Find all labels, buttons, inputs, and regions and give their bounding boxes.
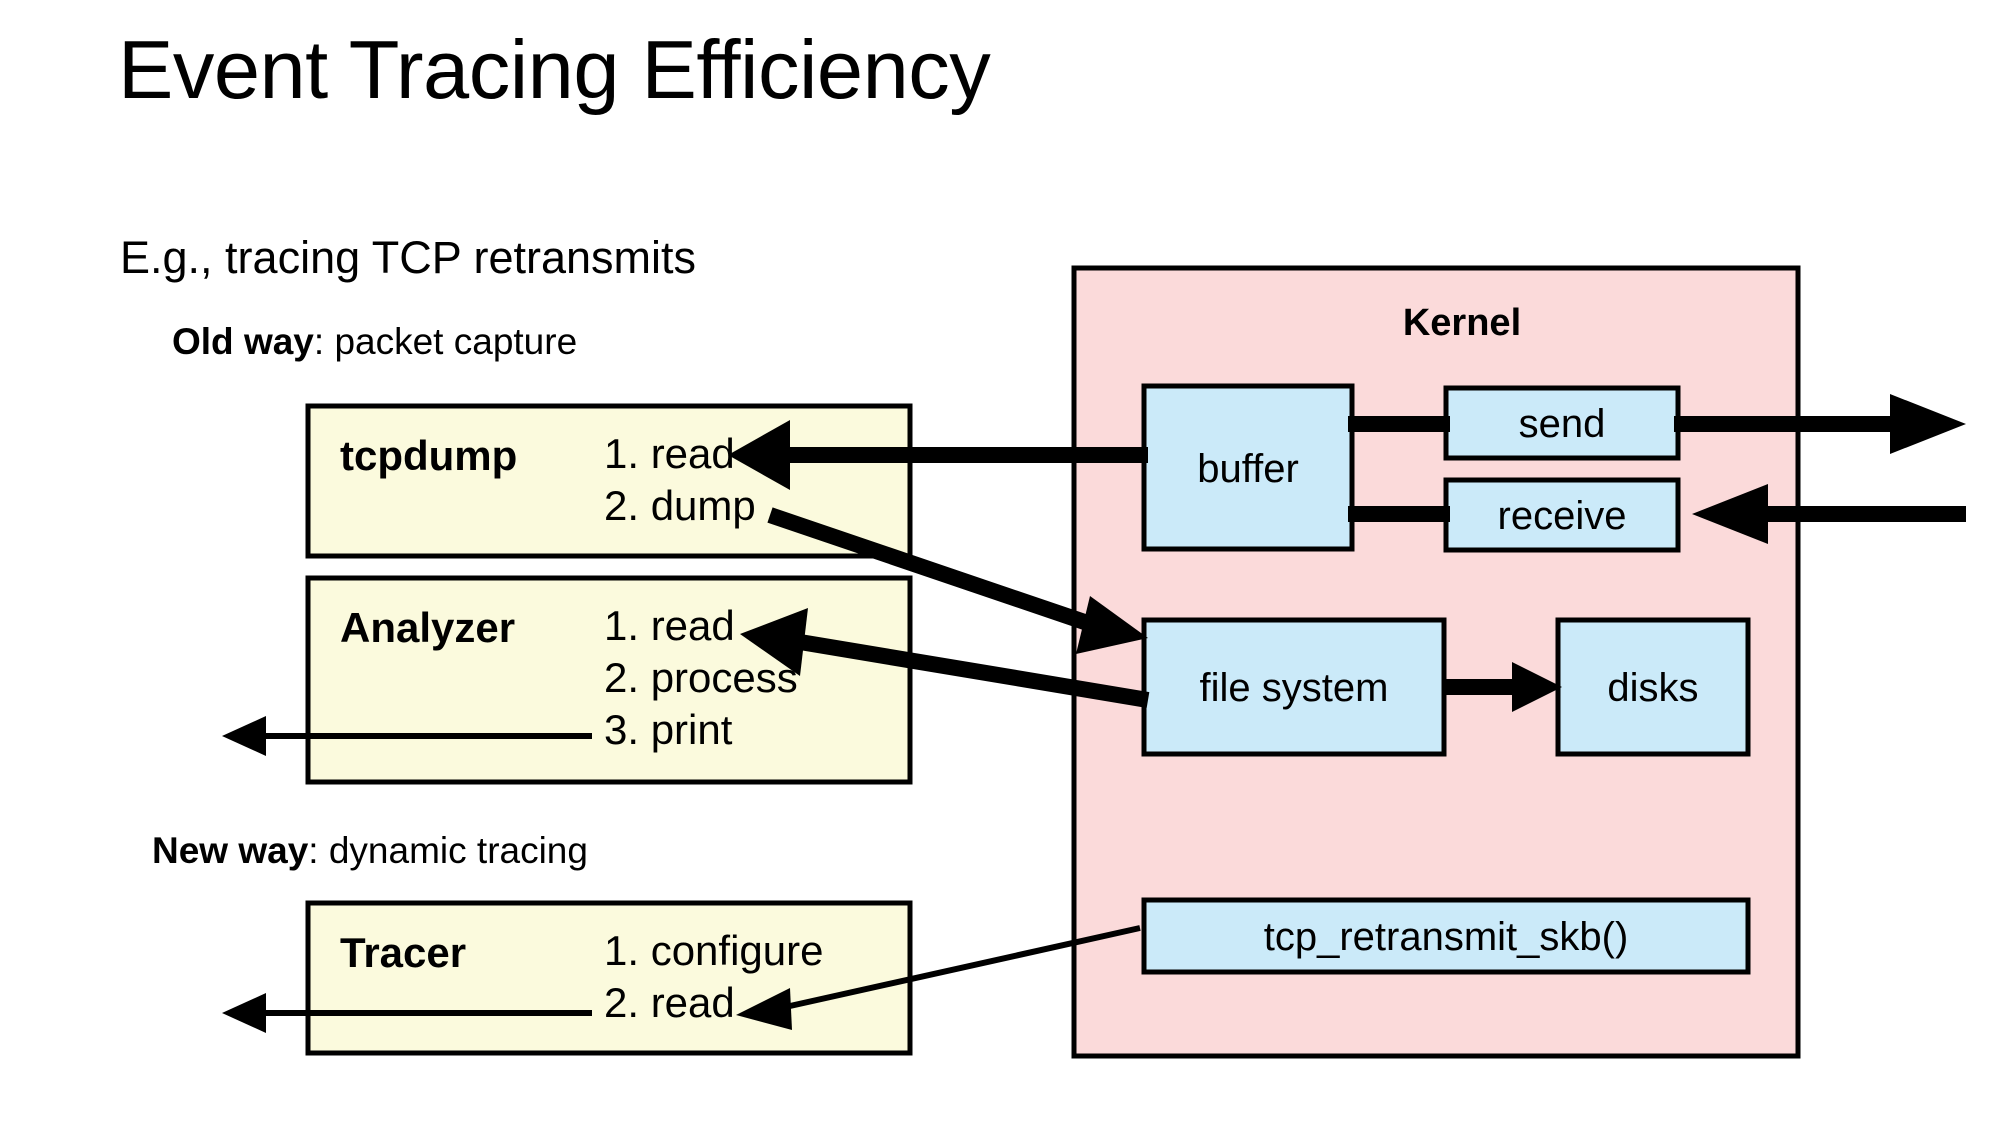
slide-canvas: Event Tracing Efficiency E.g., tracing T…	[0, 0, 1998, 1125]
disks-label: disks	[1607, 666, 1698, 710]
send-outbound-arrowhead	[1890, 394, 1966, 454]
file-system-label: file system	[1200, 666, 1389, 710]
buffer-label: buffer	[1197, 447, 1299, 491]
kernel-label: Kernel	[1403, 302, 1521, 344]
tracer-step-2: 2. read	[604, 979, 735, 1026]
tcpdump-step-2: 2. dump	[604, 482, 756, 529]
tracing-diagram: Kernel	[0, 0, 1998, 1125]
analyzer-print-output-arrowhead	[222, 716, 266, 756]
tcpdump-step-1: 1. read	[604, 430, 735, 477]
tracer-step-1: 1. configure	[604, 927, 823, 974]
tcpdump-name: tcpdump	[340, 432, 517, 479]
analyzer-step-2: 2. process	[604, 654, 798, 701]
analyzer-step-1: 1. read	[604, 602, 735, 649]
tcp-retransmit-label: tcp_retransmit_skb()	[1264, 915, 1629, 959]
analyzer-step-3: 3. print	[604, 706, 733, 753]
tracer-name: Tracer	[340, 929, 466, 976]
receive-label: receive	[1498, 494, 1627, 538]
tracer-read-output-arrowhead	[222, 993, 266, 1033]
send-label: send	[1519, 402, 1606, 446]
analyzer-name: Analyzer	[340, 604, 515, 651]
tracer-box	[308, 903, 910, 1053]
